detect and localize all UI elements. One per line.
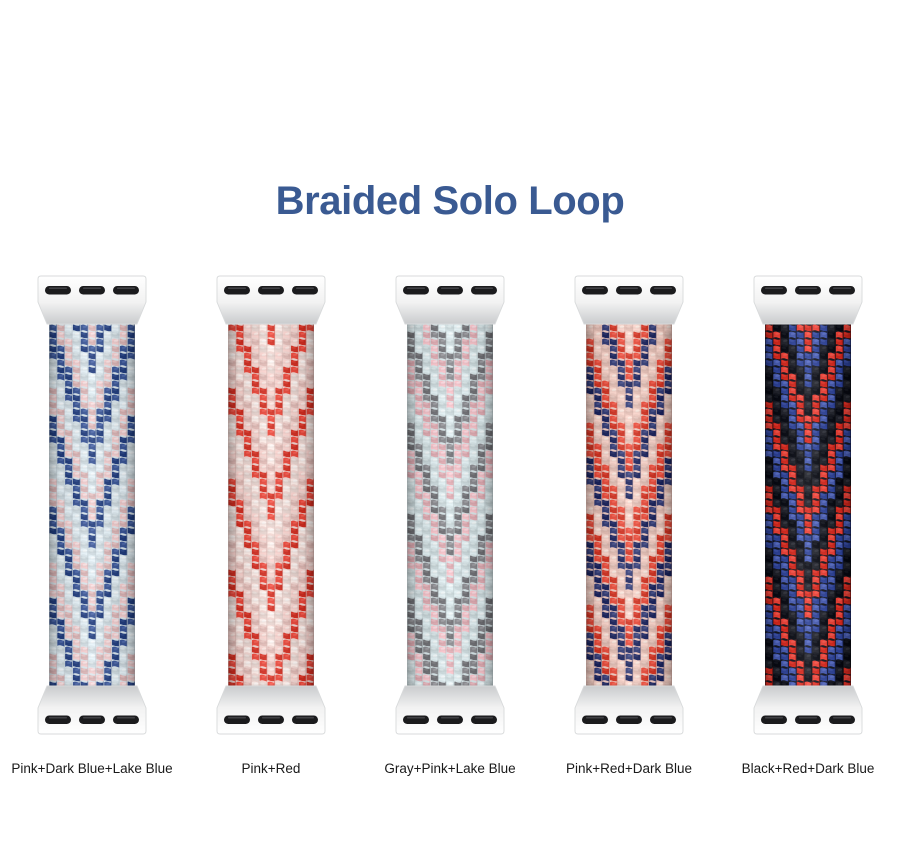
watch-band-image <box>211 268 331 742</box>
product-image-canvas: Braided Solo Loop Pink+Dark Blue+Lake Bl… <box>0 0 900 862</box>
product-item[interactable]: Pink+Dark Blue+Lake Blue <box>8 268 176 788</box>
product-item[interactable]: Gray+Pink+Lake Blue <box>366 268 534 788</box>
watch-band-image <box>32 268 152 742</box>
product-caption: Gray+Pink+Lake Blue <box>384 760 515 778</box>
page-title: Braided Solo Loop <box>0 173 900 229</box>
product-caption: Pink+Red+Dark Blue <box>566 760 692 778</box>
product-gallery: Pink+Dark Blue+Lake Blue Pink+Red Gray+P… <box>0 268 900 788</box>
product-caption: Pink+Red <box>242 760 301 778</box>
watch-band-image <box>390 268 510 742</box>
product-caption: Pink+Dark Blue+Lake Blue <box>11 760 172 778</box>
product-caption: Black+Red+Dark Blue <box>742 760 875 778</box>
product-item[interactable]: Black+Red+Dark Blue <box>724 268 892 788</box>
watch-band-image <box>748 268 868 742</box>
product-item[interactable]: Pink+Red+Dark Blue <box>545 268 713 788</box>
watch-band-image <box>569 268 689 742</box>
product-item[interactable]: Pink+Red <box>187 268 355 788</box>
